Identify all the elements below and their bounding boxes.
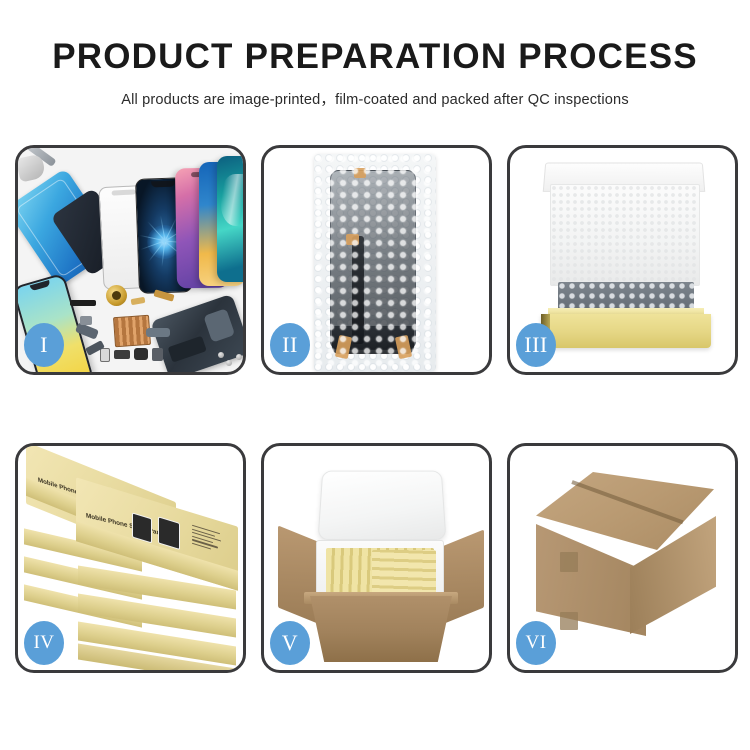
flex-cable-2 — [131, 297, 146, 305]
page-title: PRODUCT PREPARATION PROCESS — [0, 38, 750, 77]
step-badge-1: I — [24, 323, 64, 367]
step-panel-3: III — [507, 145, 738, 375]
phone-teal-gradient — [217, 156, 243, 282]
carton-front-panel — [310, 596, 452, 662]
box-spec-lines-2 — [192, 525, 224, 556]
tape-tab-1 — [354, 168, 366, 178]
step-badge-5: V — [270, 621, 310, 665]
box-screen-image-2b — [158, 516, 180, 550]
small-part-10 — [80, 316, 92, 325]
flex-cable-4 — [146, 328, 170, 337]
step-badge-2: II — [270, 323, 310, 367]
step-badge-6: VI — [516, 621, 556, 665]
page-subtitle: All products are image-printed，film-coat… — [0, 88, 750, 109]
foam-texture — [551, 185, 699, 285]
yellow-boxes-row-2 — [372, 550, 436, 594]
small-part-7 — [134, 348, 148, 360]
battery-connector-bar — [70, 300, 96, 306]
step-panel-6: VI — [507, 443, 738, 673]
tape-tab-2 — [346, 234, 359, 245]
carton-tape-mark-2 — [560, 612, 578, 630]
step-panel-5: V — [261, 443, 492, 673]
screw-1 — [226, 360, 232, 366]
step-panel-1: I — [15, 145, 246, 375]
step-badge-3: III — [516, 323, 556, 367]
foam-lining-back — [550, 184, 700, 286]
small-part-6 — [114, 350, 130, 359]
step-badge-4: IV — [24, 621, 64, 665]
small-part-8 — [152, 348, 163, 361]
foam-box-lid — [318, 471, 447, 540]
header: PRODUCT PREPARATION PROCESS All products… — [0, 0, 750, 109]
yellow-box-front — [541, 314, 711, 348]
speaker-component — [106, 285, 127, 306]
screw-2 — [236, 354, 242, 360]
process-steps-grid: I II — [15, 145, 738, 673]
step-panel-4: Mobile Phone Spare Parts Mobile Phone Sp… — [15, 443, 246, 673]
small-part-5 — [100, 348, 110, 362]
product-preparation-infographic: PRODUCT PREPARATION PROCESS All products… — [0, 0, 750, 750]
carton-tape-mark-1 — [560, 552, 578, 572]
screw-3 — [218, 352, 224, 358]
step-panel-2: II — [261, 145, 492, 375]
wrapped-lcd-screen — [330, 170, 416, 350]
